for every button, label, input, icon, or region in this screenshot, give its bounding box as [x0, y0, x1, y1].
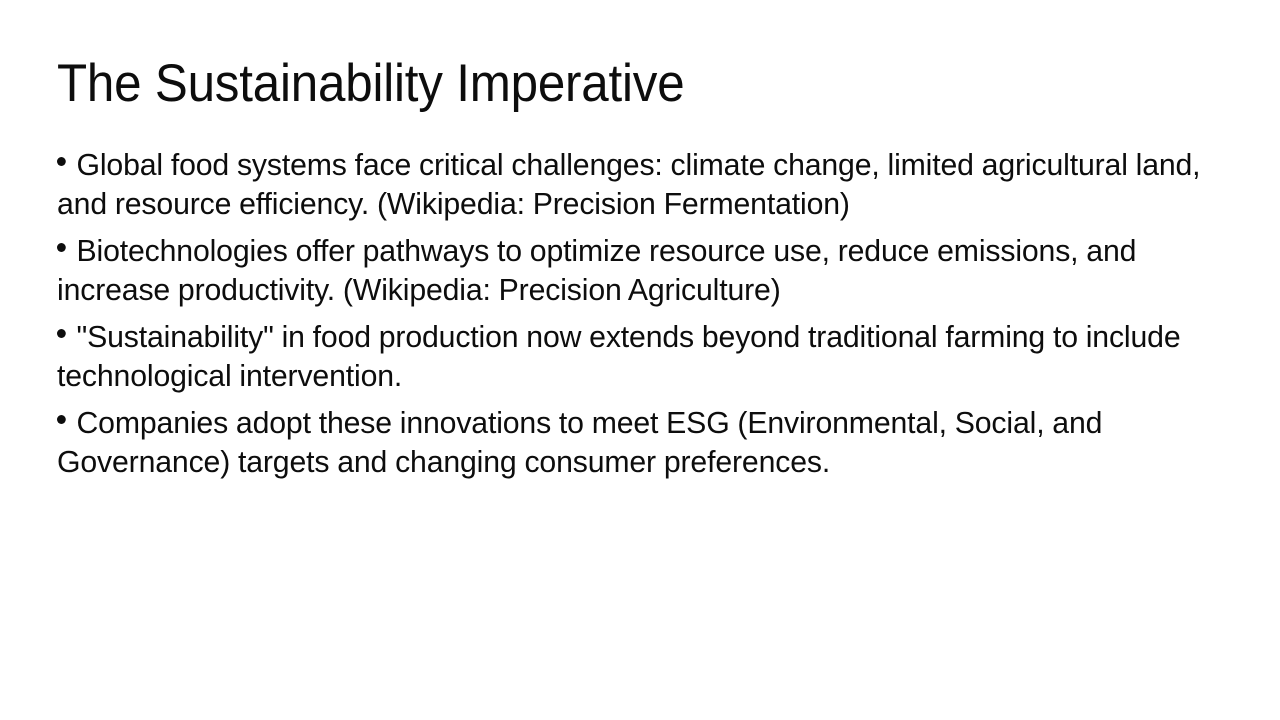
bullet-list-item: Biotechnologies offer pathways to optimi…	[57, 232, 1206, 309]
bullet-dot-icon	[57, 329, 66, 338]
bullet-list-item: "Sustainability" in food production now …	[57, 318, 1206, 395]
bullet-text: Biotechnologies offer pathways to optimi…	[57, 233, 1136, 307]
bullet-text: "Sustainability" in food production now …	[57, 319, 1180, 393]
bullet-dot-icon	[57, 157, 66, 166]
bullet-dot-icon	[57, 415, 66, 424]
bullet-text: Global food systems face critical challe…	[57, 147, 1200, 221]
bullet-list-item: Companies adopt these innovations to mee…	[57, 404, 1206, 481]
bullet-list-item: Global food systems face critical challe…	[57, 146, 1206, 223]
slide-title: The Sustainability Imperative	[57, 52, 1145, 116]
presentation-slide: The Sustainability Imperative Global foo…	[0, 0, 1280, 720]
bullet-dot-icon	[57, 243, 66, 252]
bullet-text: Companies adopt these innovations to mee…	[57, 405, 1102, 479]
slide-body-content: Global food systems face critical challe…	[57, 146, 1235, 481]
